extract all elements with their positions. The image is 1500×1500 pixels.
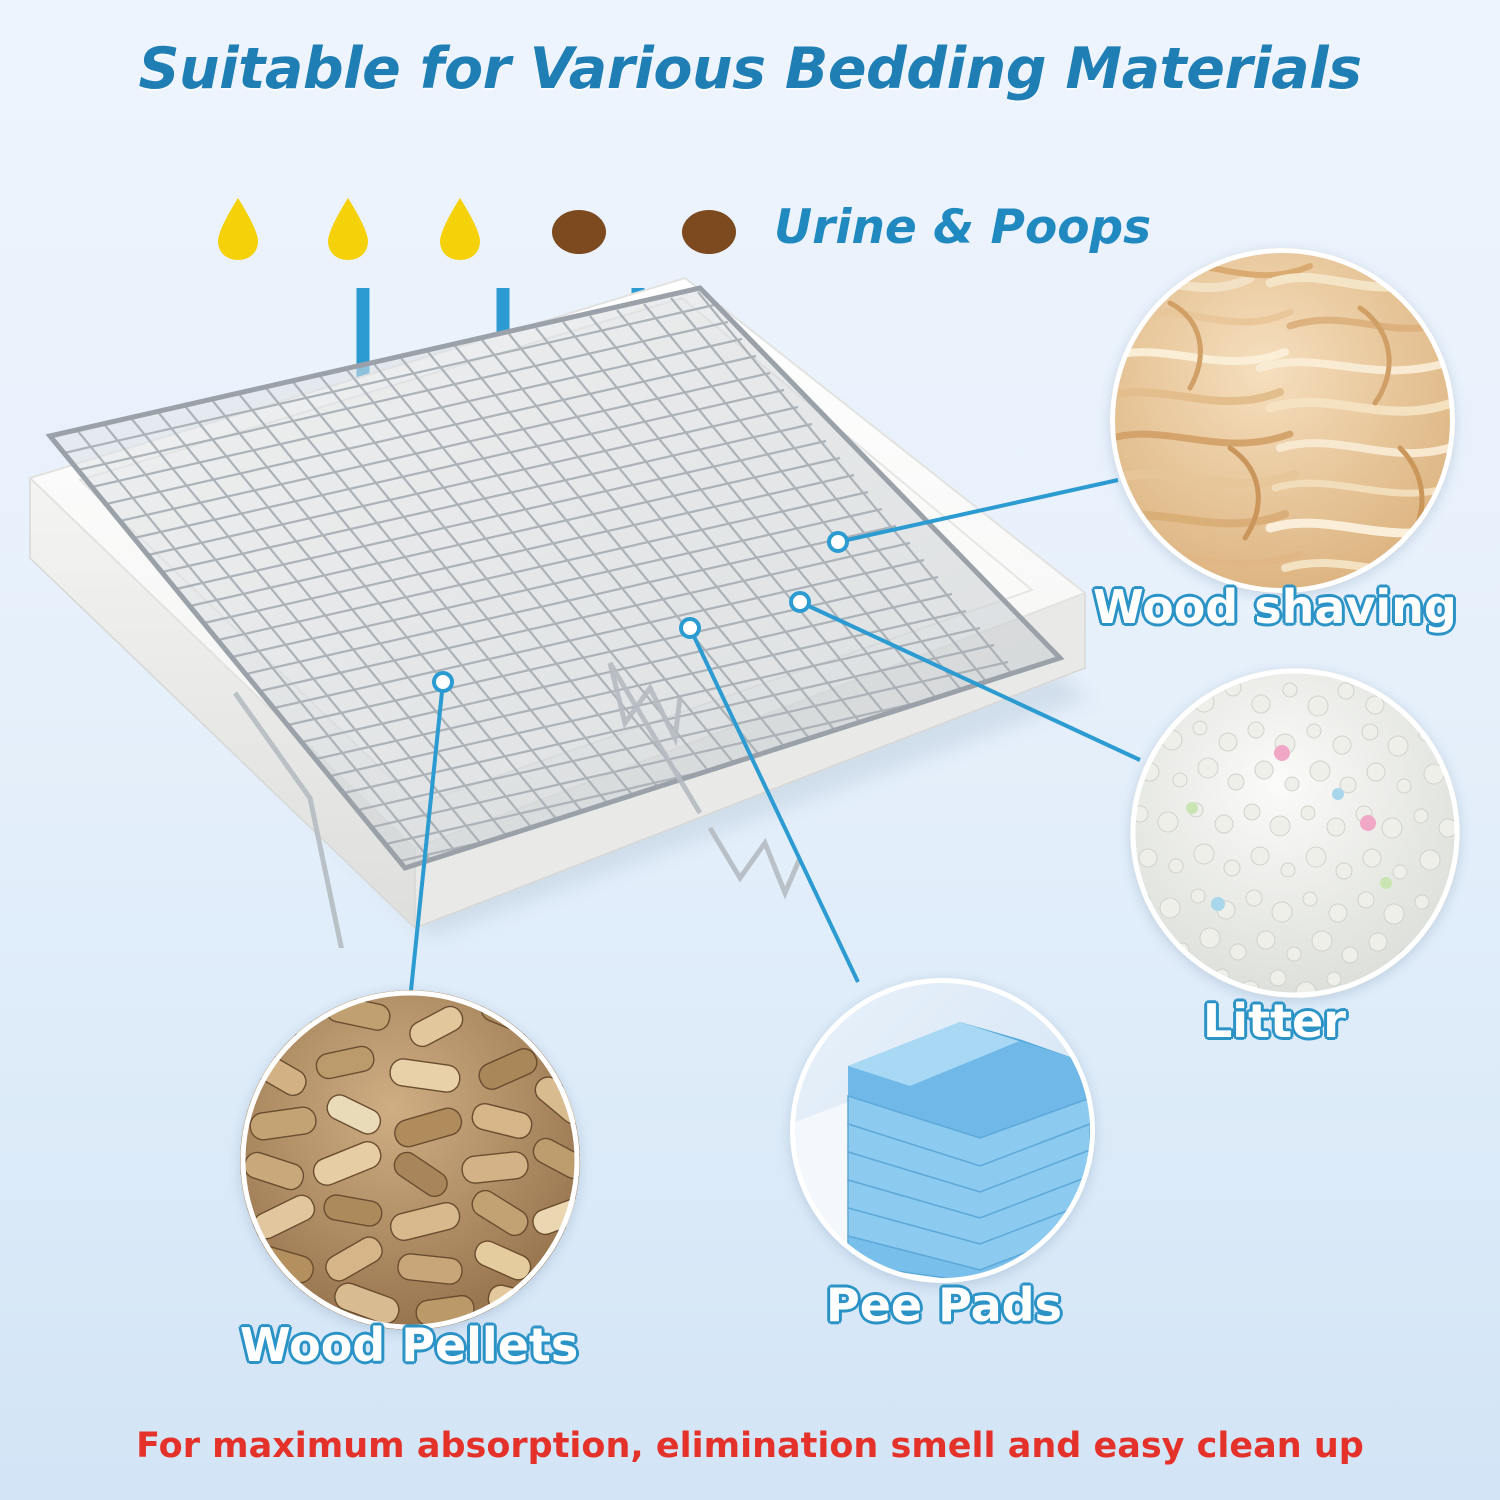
promo-image: Suitable for Various Bedding Materials U… bbox=[0, 0, 1500, 1500]
product-photo-tray bbox=[10, 268, 1120, 948]
page-title: Suitable for Various Bedding Materials bbox=[0, 36, 1500, 102]
bubble-label-litter: Litter bbox=[1203, 994, 1346, 1048]
bubble-wood-pellets bbox=[240, 990, 580, 1330]
urine-drop-icon bbox=[324, 196, 372, 262]
legend-urine-poops: Urine & Poops bbox=[214, 196, 1174, 268]
bubble-label-wood-pellets: Wood Pellets bbox=[240, 1318, 578, 1372]
bubble-litter bbox=[1130, 668, 1460, 998]
poop-dot-icon bbox=[682, 210, 736, 254]
footer-tagline: For maximum absorption, elimination smel… bbox=[0, 1426, 1500, 1466]
bubble-pee-pads bbox=[790, 978, 1095, 1283]
bubble-label-pee-pads: Pee Pads bbox=[826, 1278, 1062, 1332]
poop-dot-icon bbox=[552, 210, 606, 254]
urine-drop-icon bbox=[436, 196, 484, 262]
legend-label: Urine & Poops bbox=[774, 200, 1151, 255]
bubble-label-wood-shaving: Wood shaving bbox=[1093, 580, 1457, 634]
urine-drop-icon bbox=[214, 196, 262, 262]
bubble-wood-shaving bbox=[1110, 248, 1455, 593]
